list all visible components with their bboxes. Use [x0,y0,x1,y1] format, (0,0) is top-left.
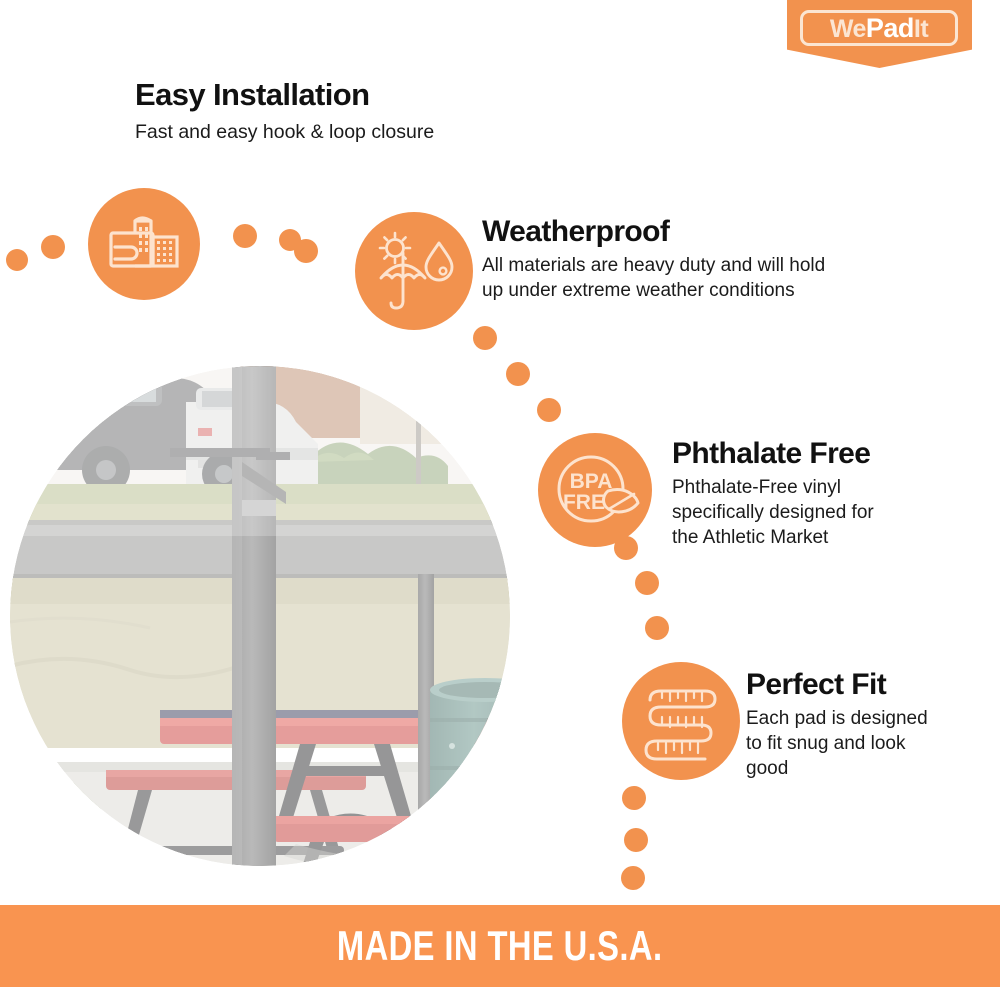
feature-weatherproof-description: All materials are heavy duty and will ho… [482,253,902,304]
feature-perfect-fit-description: Each pad is designed to fit snug and loo… [746,706,986,782]
feature-phthalate-free-title: Phthalate Free [672,437,972,471]
feature-phthalate-free-desc-line1: Phthalate-Free vinyl [672,477,841,498]
brand-logo: WePadIt [787,0,972,68]
infographic-page: WePadIt Easy Installation Fast and easy … [0,0,1000,987]
feature-weatherproof-title: Weatherproof [482,215,902,249]
feature-perfect-fit-desc-line2: to fit snug and look [746,733,906,754]
trail-dot [233,224,257,248]
bpa-free-leaf-icon: BPA FREE [538,433,652,547]
logo-wordmark: WePadIt [830,15,928,42]
feature-perfect-fit-desc-line1: Each pad is designed [746,708,928,729]
feature-perfect-fit-title: Perfect Fit [746,668,986,702]
trail-dot [506,362,530,386]
page-subtitle: Fast and easy hook & loop closure [135,120,595,146]
feature-perfect-fit-text: Perfect Fit Each pad is designed to fit … [746,668,986,781]
measuring-tape-icon [622,662,740,780]
feature-phthalate-free-text: Phthalate Free Phthalate-Free vinyl spec… [672,437,972,550]
sun-umbrella-raindrop-icon [355,212,473,330]
trail-dot [635,571,659,595]
trail-dot [6,249,28,271]
trail-dot [294,239,318,263]
feature-perfect-fit-desc-line3: good [746,758,788,779]
feature-phthalate-free-description: Phthalate-Free vinyl specifically design… [672,475,972,551]
logo-text-pad: Pad [866,13,914,43]
trail-dot [622,786,646,810]
made-in-usa-text: MADE IN THE U.S.A. [337,925,663,967]
feature-weatherproof-text: Weatherproof All materials are heavy dut… [482,215,902,303]
product-photo [10,366,510,866]
bpa-label-line1: BPA [570,470,613,493]
feature-easy-installation-text: Easy Installation Fast and easy hook & l… [135,78,595,146]
logo-text-we: We [830,15,866,43]
trail-dot [41,235,65,259]
made-in-usa-banner: MADE IN THE U.S.A. [0,905,1000,987]
feature-weatherproof-desc-line1: All materials are heavy duty and will ho… [482,255,825,276]
feature-phthalate-free-desc-line2: specifically designed for [672,502,874,523]
feature-phthalate-free-desc-line3: the Athletic Market [672,527,828,548]
trail-dot [645,616,669,640]
trail-dot [624,828,648,852]
feature-weatherproof-desc-line2: up under extreme weather conditions [482,280,795,301]
logo-text-it: It [914,15,928,43]
trail-dot [473,326,497,350]
page-title: Easy Installation [135,78,595,113]
trail-dot [537,398,561,422]
hook-loop-closure-icon [88,188,200,300]
trail-dot [621,866,645,890]
logo-plate: WePadIt [800,10,958,46]
